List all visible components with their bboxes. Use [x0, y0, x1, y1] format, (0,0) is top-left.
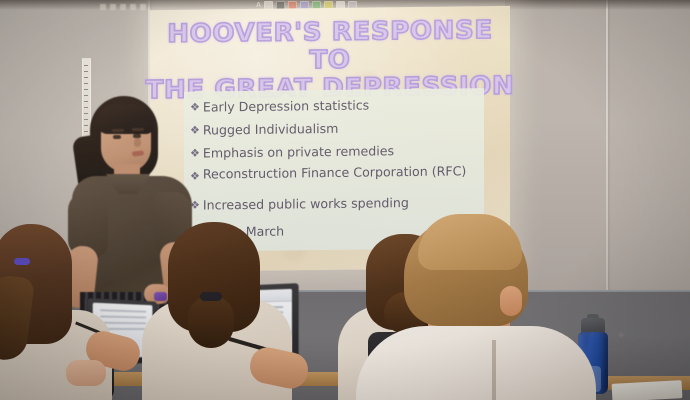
- teacher-brow-left: [112, 129, 124, 132]
- student-ear: [500, 286, 522, 316]
- bullet-text: Increased public works spending: [203, 191, 409, 217]
- toolbar-icon-4[interactable]: [130, 4, 136, 10]
- hair-tie: [14, 258, 30, 265]
- bullet-text: Reconstruction Finance Corporation (RFC): [203, 161, 466, 184]
- teacher-fringe: [97, 104, 154, 134]
- slide-title-line-1: HOOVER'S RESPONSE TO: [143, 16, 517, 77]
- toolbar-icon-3[interactable]: [120, 4, 126, 10]
- shirt-placket: [492, 340, 496, 400]
- teacher-eye-left: [113, 135, 121, 139]
- teacher-brow-right: [132, 128, 144, 131]
- toolbar-icon-1[interactable]: [100, 4, 106, 10]
- toolbar-icon-5[interactable]: [140, 4, 146, 10]
- list-item: ❖ Reconstruction Finance Corporation (RF…: [190, 161, 468, 187]
- doc-line: [100, 309, 146, 312]
- student-ponytail: [188, 296, 234, 348]
- bullet-text: Rugged Individualism: [203, 117, 339, 142]
- bullet-text: Early Depression statistics: [203, 94, 369, 119]
- toolbar-icon-2[interactable]: [110, 4, 116, 10]
- student-hair-highlight: [418, 214, 522, 270]
- doc-line: [100, 322, 146, 325]
- student-hand: [66, 360, 106, 386]
- whiteboard-right-panel: [505, 0, 690, 305]
- hair-tie: [200, 292, 222, 301]
- doc-line: [100, 315, 146, 318]
- list-item: ❖ Increased public works spending: [190, 190, 490, 217]
- teacher-eye-right: [133, 134, 141, 138]
- paper-sheet: [612, 380, 683, 400]
- student-shirt: [356, 326, 596, 400]
- bullet-text: Emphasis on private remedies: [203, 139, 394, 164]
- whiteboard-left-icon-cluster[interactable]: [100, 4, 146, 10]
- teacher-nose: [134, 138, 141, 147]
- classroom-photo: A HOOVER'S RESPONSE TO THE GREAT DEPRESS…: [0, 0, 690, 400]
